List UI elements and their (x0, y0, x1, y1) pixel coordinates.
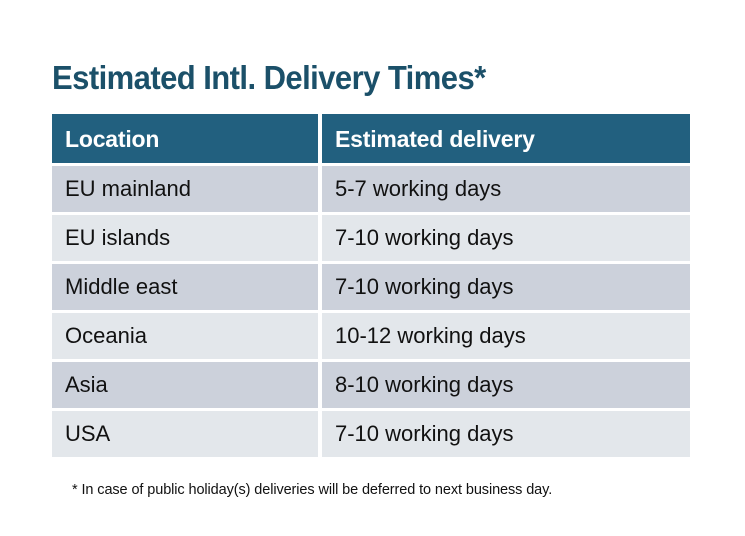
table-body: EU mainland 5-7 working days EU islands … (52, 163, 690, 457)
cell-location: USA (52, 408, 318, 457)
table-row: EU islands 7-10 working days (52, 212, 690, 261)
footnote: * In case of public holiday(s) deliverie… (72, 480, 692, 500)
page-title: Estimated Intl. Delivery Times* (52, 58, 654, 98)
delivery-times-table: Location Estimated delivery EU mainland … (52, 114, 690, 457)
column-header-location: Location (52, 114, 318, 163)
cell-location: EU mainland (52, 163, 318, 212)
cell-delivery: 7-10 working days (322, 212, 690, 261)
table-row: Middle east 7-10 working days (52, 261, 690, 310)
cell-delivery: 7-10 working days (322, 261, 690, 310)
cell-delivery: 7-10 working days (322, 408, 690, 457)
cell-delivery: 8-10 working days (322, 359, 690, 408)
cell-location: Middle east (52, 261, 318, 310)
cell-location: Oceania (52, 310, 318, 359)
table-row: Oceania 10-12 working days (52, 310, 690, 359)
cell-location: Asia (52, 359, 318, 408)
table-header: Location Estimated delivery (52, 114, 690, 163)
table-row: USA 7-10 working days (52, 408, 690, 457)
delivery-times-panel: Estimated Intl. Delivery Times* Location… (0, 0, 745, 536)
table-header-row: Location Estimated delivery (52, 114, 690, 163)
cell-delivery: 5-7 working days (322, 163, 690, 212)
cell-location: EU islands (52, 212, 318, 261)
cell-delivery: 10-12 working days (322, 310, 690, 359)
column-header-estimated-delivery: Estimated delivery (322, 114, 690, 163)
table-row: EU mainland 5-7 working days (52, 163, 690, 212)
table-row: Asia 8-10 working days (52, 359, 690, 408)
